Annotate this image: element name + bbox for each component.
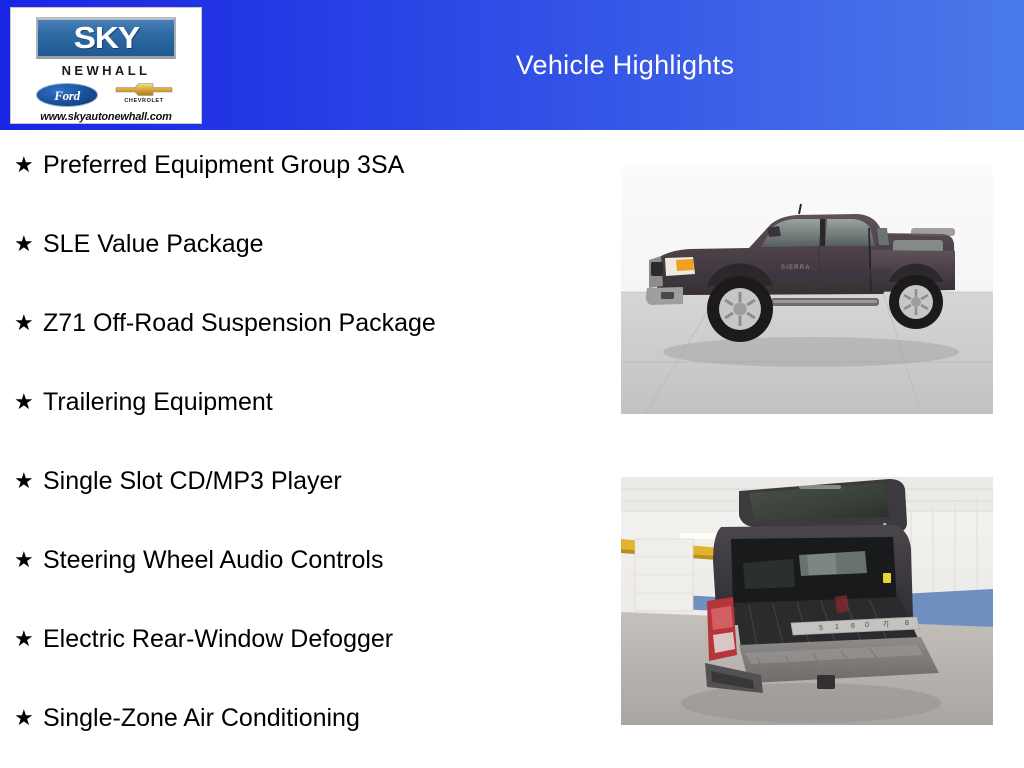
svg-text:7|: 7| bbox=[883, 621, 889, 628]
highlight-label: Single-Zone Air Conditioning bbox=[43, 703, 360, 733]
dealer-logo-inner: SKY NEWHALL Ford bbox=[11, 8, 201, 123]
chevrolet-badge-label: CHEVROLET bbox=[124, 98, 163, 104]
dealer-logo[interactable]: SKY NEWHALL Ford bbox=[10, 7, 202, 124]
highlight-label: Preferred Equipment Group 3SA bbox=[43, 150, 404, 180]
star-icon: ★ bbox=[10, 387, 43, 417]
star-icon: ★ bbox=[10, 466, 43, 496]
sky-logo-plate: SKY bbox=[36, 17, 176, 59]
svg-text:6: 6 bbox=[851, 623, 855, 630]
list-item: ★ Z71 Off-Road Suspension Package bbox=[10, 308, 610, 387]
svg-text:5: 5 bbox=[819, 625, 823, 632]
rear-wheel bbox=[889, 275, 943, 329]
vehicle-photo-exterior[interactable]: SIERRA bbox=[621, 166, 993, 414]
svg-text:SIERRA: SIERRA bbox=[781, 265, 811, 271]
bowtie-shape bbox=[115, 82, 173, 97]
front-wheel bbox=[707, 276, 773, 342]
list-item: ★ Single Slot CD/MP3 Player bbox=[10, 466, 610, 545]
highlight-label: Steering Wheel Audio Controls bbox=[43, 545, 383, 575]
dealer-location-text: NEWHALL bbox=[62, 63, 151, 78]
chevrolet-bowtie-icon: CHEVROLET bbox=[112, 82, 176, 108]
svg-text:8: 8 bbox=[905, 620, 909, 627]
highlight-label: Electric Rear-Window Defogger bbox=[43, 624, 393, 654]
list-item: ★ SLE Value Package bbox=[10, 229, 610, 308]
vehicle-photo-bed-open[interactable]: 5 1 6 0 7| 8 bbox=[621, 477, 993, 725]
list-item: ★ Preferred Equipment Group 3SA bbox=[10, 150, 610, 229]
ford-oval-icon: Ford bbox=[36, 83, 98, 107]
vehicle-exterior-illustration: SIERRA bbox=[621, 166, 993, 414]
star-icon: ★ bbox=[10, 703, 43, 733]
star-icon: ★ bbox=[10, 624, 43, 654]
list-item: ★ Steering Wheel Audio Controls bbox=[10, 545, 610, 624]
svg-text:1: 1 bbox=[835, 624, 839, 631]
franchise-badges: Ford CHEVROLET bbox=[17, 82, 195, 108]
highlight-label: Single Slot CD/MP3 Player bbox=[43, 466, 342, 496]
slide-root: Vehicle Highlights SKY NEWHALL Ford bbox=[0, 0, 1024, 768]
star-icon: ★ bbox=[10, 308, 43, 338]
star-icon: ★ bbox=[10, 150, 43, 180]
list-item: ★ Electric Rear-Window Defogger bbox=[10, 624, 610, 703]
svg-text:0: 0 bbox=[865, 622, 869, 629]
highlight-label: Z71 Off-Road Suspension Package bbox=[43, 308, 436, 338]
highlight-label: SLE Value Package bbox=[43, 229, 264, 259]
list-item: ★ Trailering Equipment bbox=[10, 387, 610, 466]
dealer-website-url[interactable]: www.skyautonewhall.com bbox=[40, 111, 172, 123]
vehicle-bed-illustration: 5 1 6 0 7| 8 bbox=[621, 477, 993, 725]
highlight-label: Trailering Equipment bbox=[43, 387, 273, 417]
sky-brand-text: SKY bbox=[73, 20, 139, 56]
ford-badge-label: Ford bbox=[54, 89, 80, 102]
star-icon: ★ bbox=[10, 545, 43, 575]
star-icon: ★ bbox=[10, 229, 43, 259]
list-item: ★ Single-Zone Air Conditioning bbox=[10, 703, 610, 768]
vehicle-highlights-list: ★ Preferred Equipment Group 3SA ★ SLE Va… bbox=[10, 150, 610, 768]
